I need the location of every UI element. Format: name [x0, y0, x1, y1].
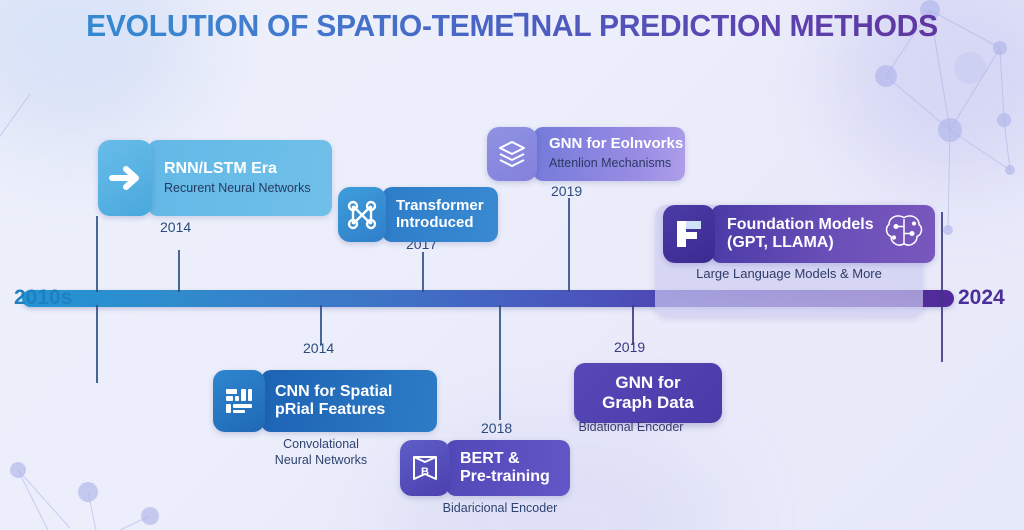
letter-f-icon [663, 205, 715, 263]
event-body-bert: BERT & Pre-training [446, 440, 570, 496]
svg-text:B: B [421, 466, 429, 478]
event-title-bert: BERT & Pre-training [460, 450, 558, 486]
infographic-canvas: EVOLUTION OF SPATIO-TEMEꞀNAL PREDICTION … [0, 0, 1024, 530]
layers-icon [487, 127, 537, 181]
dashboard-blocks-icon [213, 370, 265, 432]
year-label-2019-below: 2019 [614, 339, 645, 355]
event-body-cnn: CNN for Spatial pRial Features [261, 370, 437, 432]
event-body-gnn-networks: GNN for Eolnvorks Attenlion Mechanisms [533, 127, 685, 181]
event-title-cnn: CNN for Spatial pRial Features [275, 383, 425, 419]
connector-year-2014-below [320, 305, 322, 345]
event-title-gnn-graph: GNN for Graph Data [594, 373, 702, 413]
event-card-cnn[interactable]: CNN for Spatial pRial Features [213, 370, 437, 432]
year-label-2014-above: 2014 [160, 219, 191, 235]
event-card-transformer[interactable]: Transformer Introduced [338, 187, 498, 242]
connector-2024-end [941, 212, 943, 362]
connector-year-2017 [422, 252, 424, 292]
event-card-gnn-graph[interactable]: GNN for Graph Data [574, 363, 722, 423]
connector-year-2018 [499, 305, 501, 420]
axis-end-label: 2024 [958, 286, 1005, 310]
book-b-icon: B [400, 440, 450, 496]
connector-rnn [96, 216, 98, 292]
event-subtitle-cnn: Convolational Neural Networks [216, 437, 426, 468]
event-card-rnn-lstm[interactable]: RNN/LSTM Era Recurent Neural Networks [98, 140, 332, 216]
year-label-2014-below: 2014 [303, 340, 334, 356]
page-title: EVOLUTION OF SPATIO-TEMEꞀNAL PREDICTION … [15, 8, 1008, 44]
event-card-bert[interactable]: B BERT & Pre-training [400, 440, 570, 496]
brain-icon [883, 212, 925, 257]
connector-cnn-stem [96, 305, 98, 383]
year-label-2018: 2018 [481, 420, 512, 436]
event-card-gnn-networks[interactable]: GNN for Eolnvorks Attenlion Mechanisms [487, 127, 685, 181]
event-title-gnn-networks: GNN for Eolnvorks [549, 136, 669, 153]
event-body-transformer: Transformer Introduced [382, 187, 498, 242]
connector-year-2014-above [178, 250, 180, 292]
event-subtitle-gnn-graph: Bidational Encoder [556, 420, 706, 436]
event-title-rnn-lstm: RNN/LSTM Era [164, 160, 318, 178]
event-subtitle-foundation-models: Large Language Models & More [655, 266, 923, 281]
event-card-foundation-models[interactable]: Foundation Models (GPT, LLAMA) [663, 205, 935, 263]
event-title-transformer: Transformer Introduced [396, 198, 486, 232]
year-label-2019-above: 2019 [551, 183, 582, 199]
connector-year-2019-above [568, 198, 570, 292]
arrow-right-icon [98, 140, 152, 216]
event-body-foundation-models: Foundation Models (GPT, LLAMA) [711, 205, 935, 263]
event-body-rnn-lstm: RNN/LSTM Era Recurent Neural Networks [148, 140, 332, 216]
axis-start-label: 2010s [14, 286, 72, 310]
network-nodes-icon [338, 187, 386, 242]
event-subtitle-bert: Bidaricional Encoder [400, 501, 600, 517]
event-subtitle-rnn-lstm: Recurent Neural Networks [164, 181, 318, 196]
event-subtitle-gnn-networks: Attenlion Mechanisms [549, 156, 669, 171]
